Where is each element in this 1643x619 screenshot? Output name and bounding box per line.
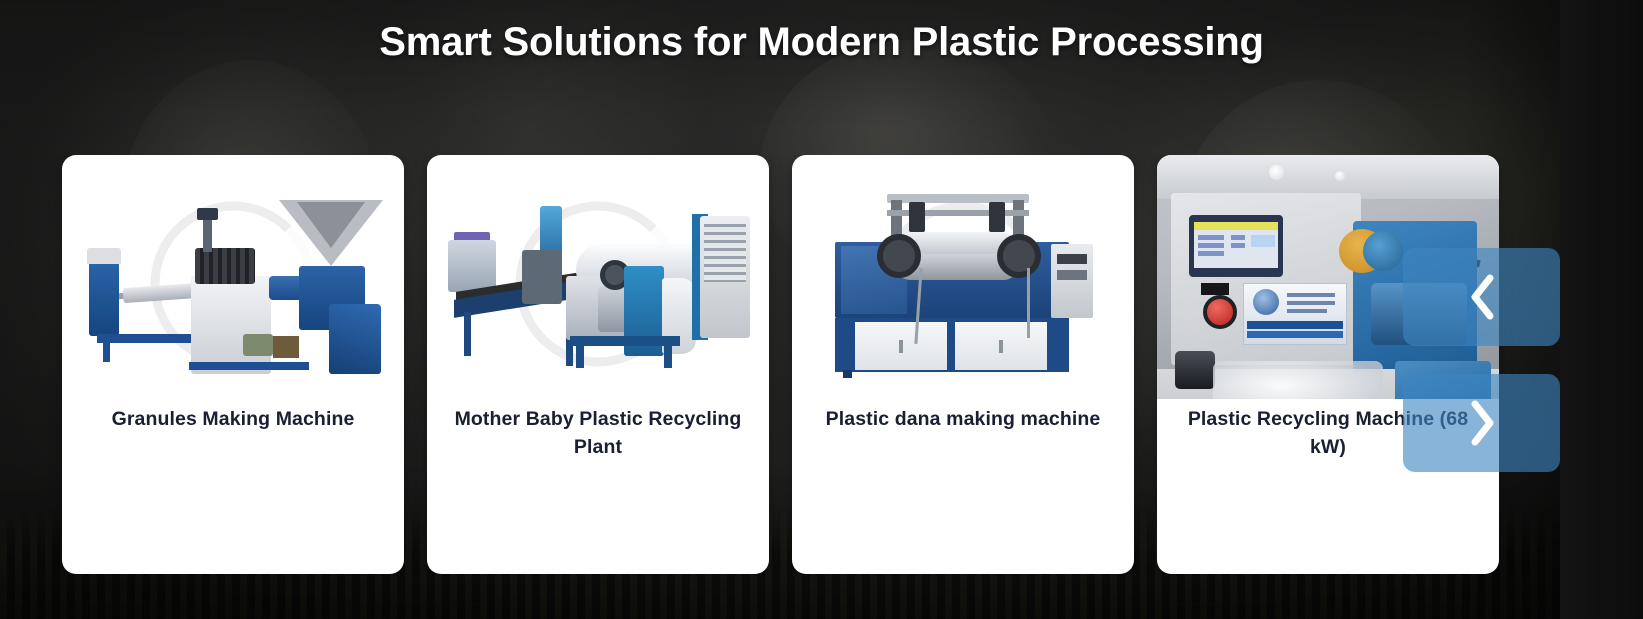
- carousel-next-button[interactable]: [1403, 374, 1560, 472]
- chevron-right-icon: [1467, 398, 1497, 448]
- viewport-right-edge: [1560, 0, 1643, 619]
- product-card-title: Mother Baby Plastic Recycling Plant: [445, 405, 751, 461]
- granules-machine-illustration: [83, 184, 383, 374]
- product-image-plastic-dana-making-machine: [792, 155, 1134, 403]
- product-card-plastic-dana-making-machine[interactable]: Plastic dana making machine: [792, 155, 1134, 574]
- two-roll-mill-illustration: [813, 184, 1113, 374]
- product-image-mother-baby-plastic-recycling-plant: [427, 155, 769, 403]
- page-title: Smart Solutions for Modern Plastic Proce…: [0, 14, 1643, 70]
- product-card-granules-making-machine[interactable]: Granules Making Machine: [62, 155, 404, 574]
- chevron-left-icon: [1467, 272, 1497, 322]
- product-image-granules-making-machine: [62, 155, 404, 403]
- carousel-prev-button[interactable]: [1403, 248, 1560, 346]
- product-card-title: Granules Making Machine: [80, 405, 386, 433]
- product-carousel[interactable]: Granules Making Machine Mother Baby Plas…: [0, 155, 1560, 575]
- product-card-mother-baby-plastic-recycling-plant[interactable]: Mother Baby Plastic Recycling Plant: [427, 155, 769, 574]
- carousel-navigation: [1403, 248, 1560, 474]
- product-card-title: Plastic dana making machine: [810, 405, 1116, 433]
- mother-baby-plant-illustration: [448, 184, 748, 374]
- carousel-track: Granules Making Machine Mother Baby Plas…: [62, 155, 1499, 574]
